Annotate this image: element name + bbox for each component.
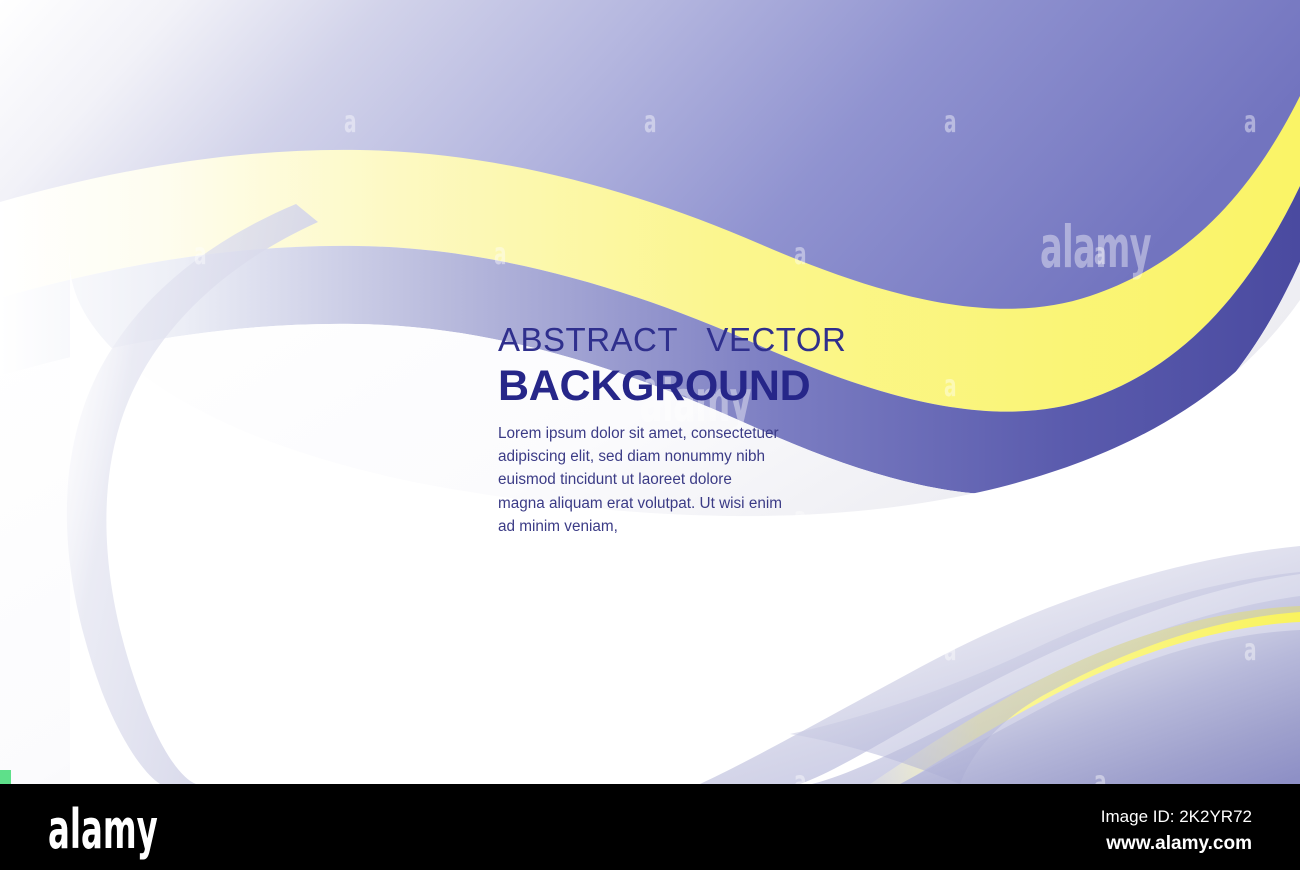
artwork-body-line: euismod tincidunt ut laoreet dolore xyxy=(498,468,835,491)
alamy-url-label[interactable]: www.alamy.com xyxy=(1101,831,1252,857)
artwork-text-block: ABSTRACT VECTOR BACKGROUND Lorem ipsum d… xyxy=(498,322,838,538)
artwork-body-line: adipiscing elit, sed diam nonummy nibh xyxy=(498,445,835,468)
artwork-body-line: Lorem ipsum dolor sit amet, consectetuer xyxy=(498,422,835,445)
artwork-body-line: magna aliquam erat volutpat. Ut wisi eni… xyxy=(498,492,835,515)
alamy-logo: alamy xyxy=(48,803,158,857)
screenshot-canvas: aaaaaaaaaaaaaaaaaaaaaaaaalamyalamy ABSTR… xyxy=(0,0,1300,870)
alamy-footer-bar: alamy Image ID: 2K2YR72 www.alamy.com xyxy=(0,784,1300,870)
artwork-kicker: ABSTRACT VECTOR xyxy=(498,322,838,358)
footer-meta: Image ID: 2K2YR72 www.alamy.com xyxy=(1101,806,1252,857)
artwork-body-copy: Lorem ipsum dolor sit amet, consectetuer… xyxy=(498,422,835,538)
artwork-title: BACKGROUND xyxy=(498,362,838,410)
artwork-body-line: ad minim veniam, xyxy=(498,515,835,538)
image-id-label: Image ID: 2K2YR72 xyxy=(1101,806,1252,829)
corner-green-mark xyxy=(0,770,11,784)
